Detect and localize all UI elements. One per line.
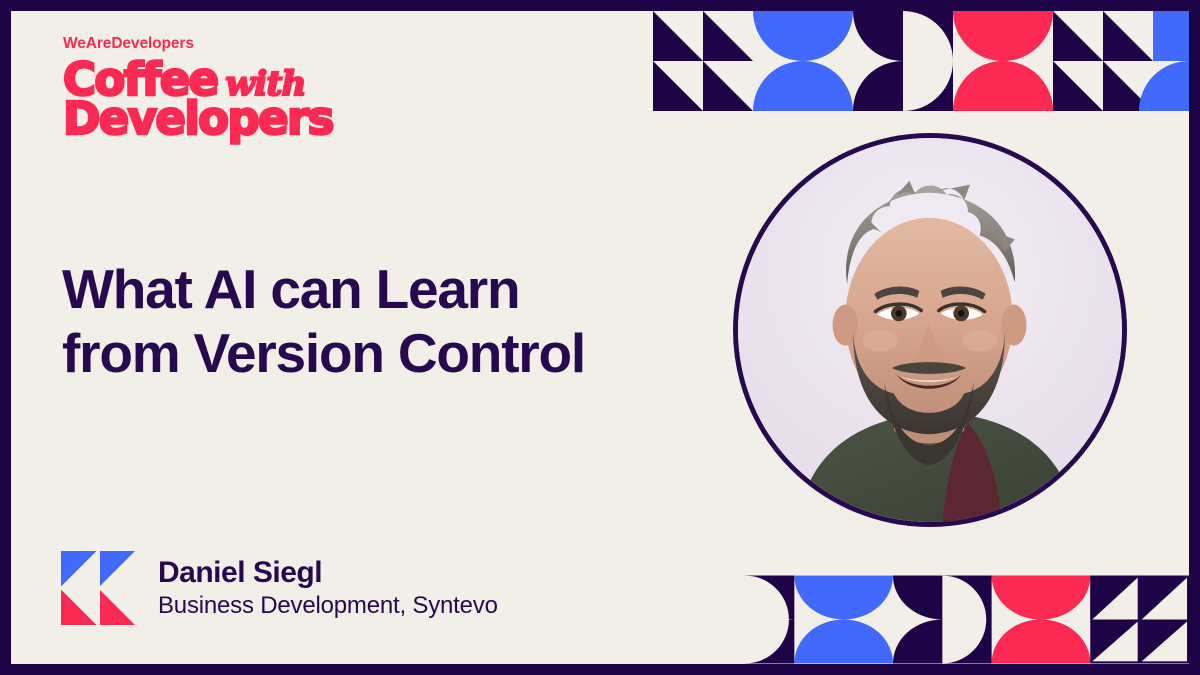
geometric-pattern-top [653, 11, 1189, 111]
speaker-text: Daniel Siegl Business Development, Synte… [158, 555, 498, 621]
triangle-blue-top-left [61, 551, 97, 587]
speaker-role: Business Development, Syntevo [158, 592, 498, 621]
slide-canvas: WeAreDevelopers Coffeewith Developers Wh… [0, 0, 1200, 675]
triangle-red-bottom-right [100, 590, 136, 626]
triangle-blue-top-right [100, 551, 136, 587]
speaker-portrait-photo-icon [738, 138, 1122, 522]
brand-logo: WeAreDevelopers Coffeewith Developers [63, 36, 333, 138]
title-line-1: What AI can Learn [62, 258, 702, 322]
speaker-avatar [733, 133, 1127, 527]
wordmark-developers: Developers [63, 100, 333, 138]
wearedevelopers-triangles-icon [61, 551, 135, 625]
brand-wordmark: Coffeewith Developers [63, 61, 333, 139]
title-line-2: from Version Control [62, 322, 702, 386]
triangle-red-bottom-left [61, 590, 97, 626]
speaker-block: Daniel Siegl Business Development, Synte… [61, 551, 498, 625]
slide-title: What AI can Learn from Version Control [62, 258, 702, 386]
brand-kicker: WeAreDevelopers [63, 36, 333, 52]
speaker-name: Daniel Siegl [158, 555, 498, 590]
geometric-pattern-bottom [745, 575, 1189, 664]
